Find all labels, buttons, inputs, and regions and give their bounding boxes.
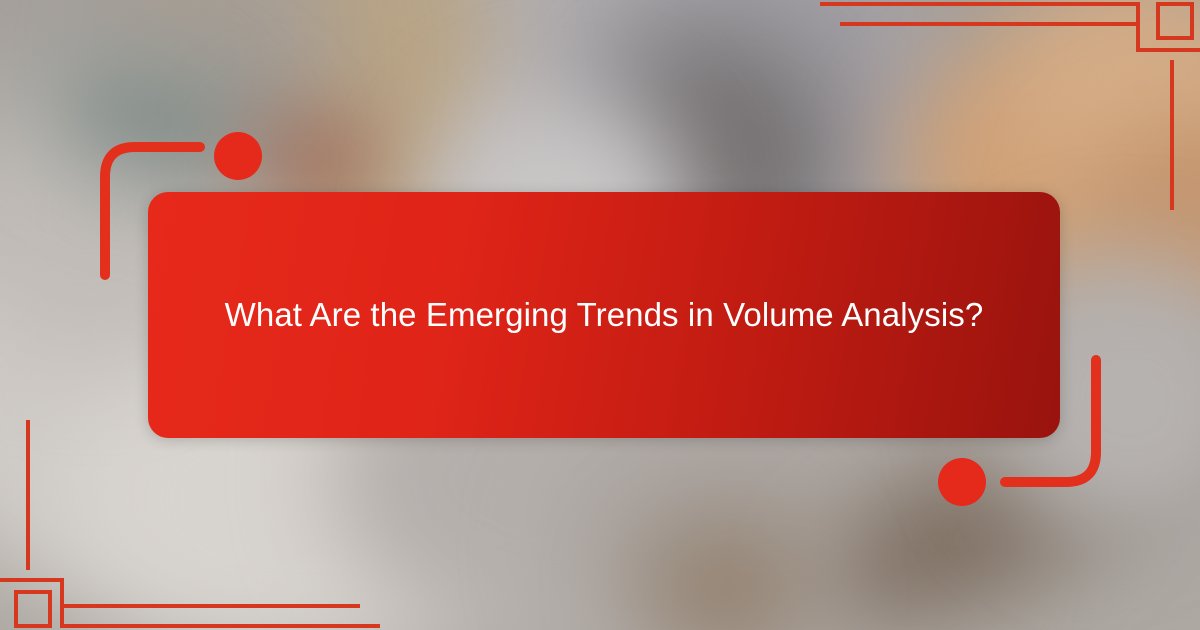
frame-line-horizontal-outer xyxy=(820,2,1140,6)
frame-line-horizontal-inner xyxy=(840,22,1140,26)
frame-line-elbow-horizontal xyxy=(0,578,64,582)
social-card-canvas: What Are the Emerging Trends in Volume A… xyxy=(0,0,1200,630)
frame-line-elbow-vertical xyxy=(1136,22,1140,52)
corner-frame-top-right xyxy=(1030,0,1200,110)
frame-corner-square xyxy=(14,590,52,628)
frame-line-horizontal-outer xyxy=(60,624,380,628)
corner-frame-bottom-left xyxy=(0,500,170,630)
frame-corner-square xyxy=(1156,2,1194,40)
frame-line-horizontal-inner xyxy=(60,604,360,608)
frame-line-elbow-vertical xyxy=(60,578,64,608)
frame-line-elbow-horizontal xyxy=(1136,48,1200,52)
frame-line-vertical-left xyxy=(26,420,30,570)
page-title: What Are the Emerging Trends in Volume A… xyxy=(201,288,1008,341)
title-card: What Are the Emerging Trends in Volume A… xyxy=(148,192,1060,438)
frame-line-vertical-right xyxy=(1170,60,1174,210)
